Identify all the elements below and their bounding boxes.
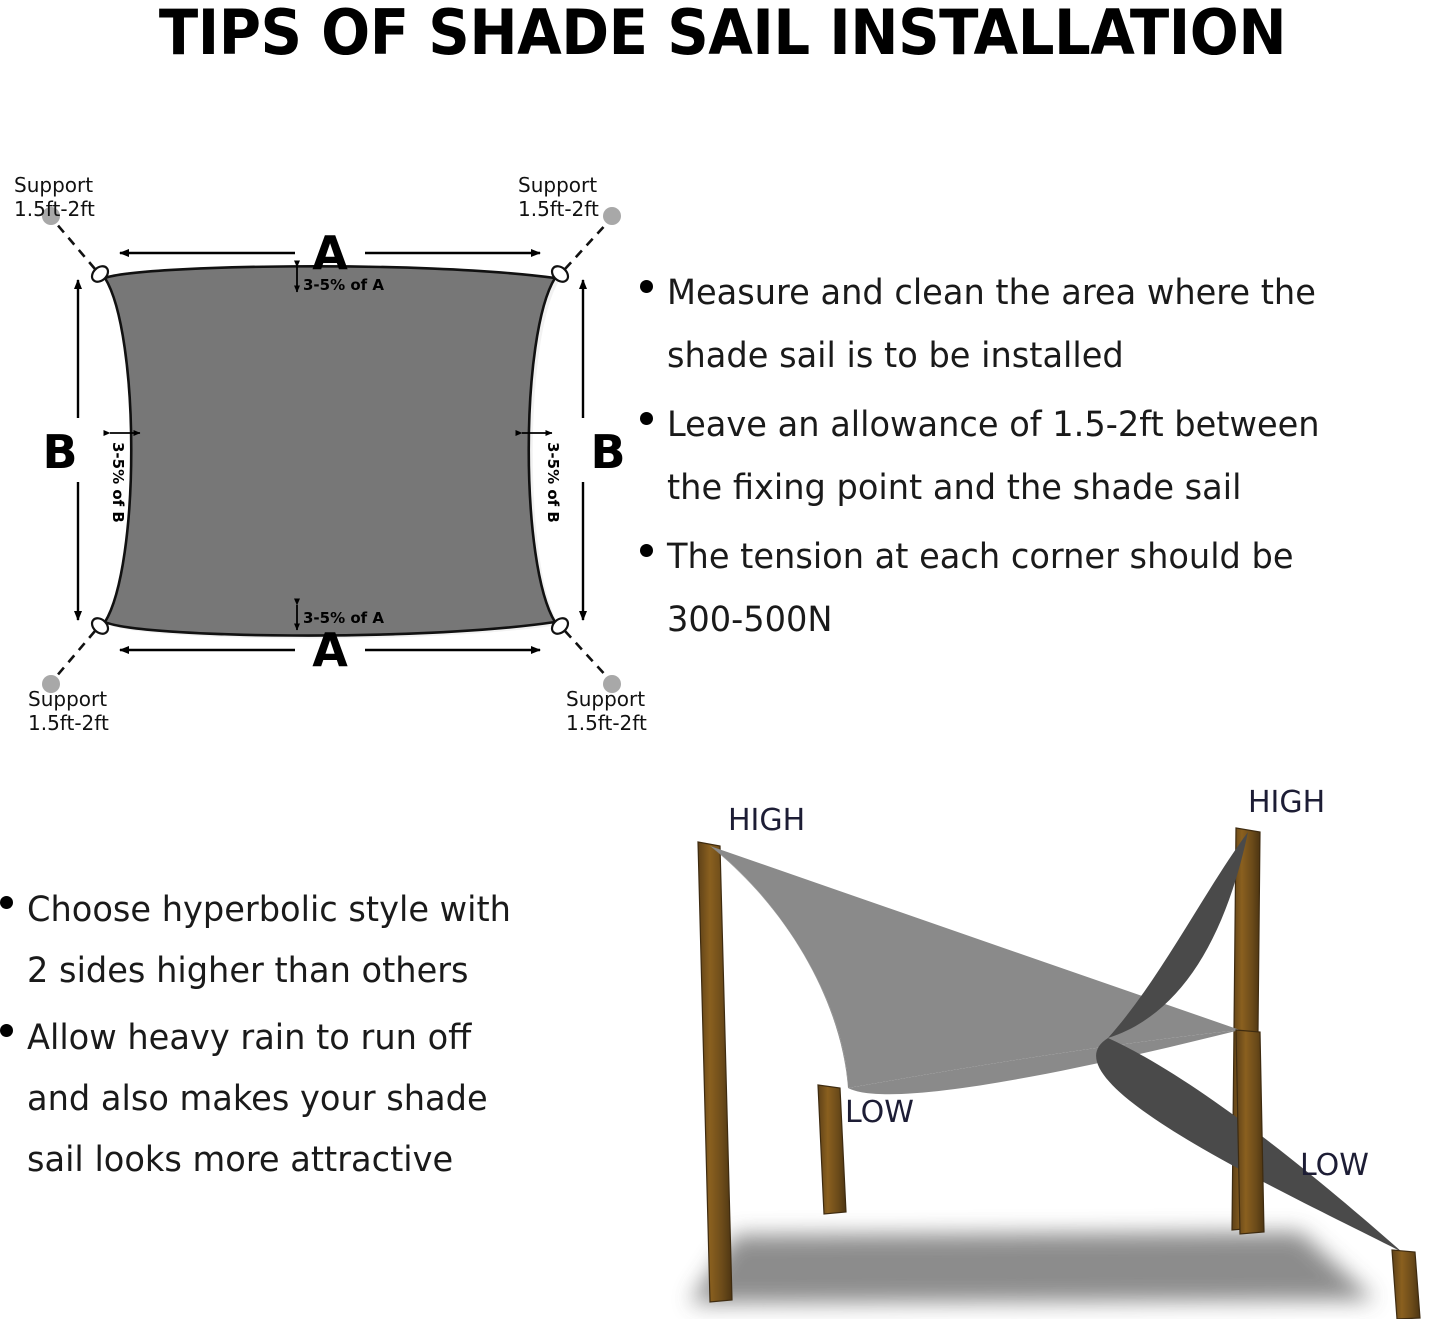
sail-shape bbox=[105, 266, 555, 635]
hyperbolic-list-panel: Choose hyperbolic style with 2 sides hig… bbox=[0, 880, 630, 1220]
support-dash-line bbox=[565, 222, 608, 269]
hyperbolic-diagram-panel: HIGH HIGH LOW LOW bbox=[640, 780, 1445, 1319]
support-label-top-left: Support 1.5ft-2ft bbox=[14, 173, 95, 221]
page-title: TIPS OF SHADE SAIL INSTALLATION bbox=[51, 0, 1395, 64]
list-item-label: The tension at each corner should be 300… bbox=[667, 526, 1294, 652]
support-dash-line bbox=[55, 222, 95, 269]
rect-sail-svg: Support 1.5ft-2ft Support 1.5ft-2ft Supp… bbox=[0, 150, 660, 750]
support-dash-line bbox=[565, 631, 608, 678]
tips-list-panel: Measure and clean the area where the sha… bbox=[640, 262, 1445, 662]
bullet-dot-icon bbox=[640, 412, 653, 425]
curve-label-bottom: 3-5% of A bbox=[303, 609, 384, 627]
support-dot bbox=[603, 207, 621, 225]
support-label-top-right: Support 1.5ft-2ft bbox=[518, 173, 599, 221]
list-item: Choose hyperbolic style with 2 sides hig… bbox=[0, 880, 630, 1002]
list-item-label: Leave an allowance of 1.5-2ft between th… bbox=[667, 394, 1320, 520]
support-label-line2: 1.5ft-2ft bbox=[518, 197, 599, 221]
bullet-dot-icon bbox=[0, 1024, 13, 1037]
curve-label-right: 3-5% of B bbox=[544, 442, 562, 523]
support-label-line2: 1.5ft-2ft bbox=[14, 197, 95, 221]
list-item-label: Allow heavy rain to run off and also mak… bbox=[27, 1008, 488, 1191]
post-center-right bbox=[1236, 1030, 1264, 1234]
post-low-right bbox=[1392, 1250, 1420, 1319]
bullet-dot-icon bbox=[640, 280, 653, 293]
list-item-label: Choose hyperbolic style with 2 sides hig… bbox=[27, 880, 511, 1002]
rect-diagram-panel: Support 1.5ft-2ft Support 1.5ft-2ft Supp… bbox=[0, 150, 660, 750]
list-item: The tension at each corner should be 300… bbox=[640, 526, 1445, 652]
label-low-right: LOW bbox=[1300, 1148, 1369, 1183]
list-item-label: Measure and clean the area where the sha… bbox=[667, 262, 1316, 388]
bullet-dot-icon bbox=[640, 544, 653, 557]
hyperbolic-sail-svg: HIGH HIGH LOW LOW bbox=[640, 780, 1445, 1319]
support-label-line2: 1.5ft-2ft bbox=[28, 711, 109, 735]
list-item: Allow heavy rain to run off and also mak… bbox=[0, 1008, 630, 1191]
dim-label-a-top: A bbox=[312, 226, 348, 280]
label-low-left: LOW bbox=[845, 1095, 914, 1130]
hyperbolic-style-tips-list: Choose hyperbolic style with 2 sides hig… bbox=[0, 880, 630, 1191]
post-high-left bbox=[698, 842, 732, 1302]
support-label-line1: Support bbox=[14, 173, 93, 197]
sail-light bbox=[710, 846, 1240, 1088]
support-label-bottom-left: Support 1.5ft-2ft bbox=[28, 687, 109, 735]
list-item: Leave an allowance of 1.5-2ft between th… bbox=[640, 394, 1445, 520]
bullet-dot-icon bbox=[0, 896, 13, 909]
label-high-left: HIGH bbox=[728, 803, 805, 838]
dim-label-b-left: B bbox=[42, 425, 77, 479]
dim-label-a-bottom: A bbox=[312, 623, 348, 677]
support-label-line1: Support bbox=[28, 687, 107, 711]
support-dash-line bbox=[55, 631, 95, 678]
curve-label-top: 3-5% of A bbox=[303, 276, 384, 294]
support-label-bottom-right: Support 1.5ft-2ft bbox=[566, 687, 647, 735]
label-high-right: HIGH bbox=[1248, 785, 1325, 820]
sail-body-group bbox=[105, 266, 559, 638]
list-item: Measure and clean the area where the sha… bbox=[640, 262, 1445, 388]
post-low-left bbox=[818, 1085, 846, 1214]
installation-tips-list: Measure and clean the area where the sha… bbox=[640, 262, 1445, 652]
support-label-line2: 1.5ft-2ft bbox=[566, 711, 647, 735]
curve-label-left: 3-5% of B bbox=[109, 442, 127, 523]
dim-label-b-right: B bbox=[590, 425, 625, 479]
support-label-line1: Support bbox=[518, 173, 597, 197]
support-label-line1: Support bbox=[566, 687, 645, 711]
ground-shadow bbox=[690, 1232, 1375, 1303]
